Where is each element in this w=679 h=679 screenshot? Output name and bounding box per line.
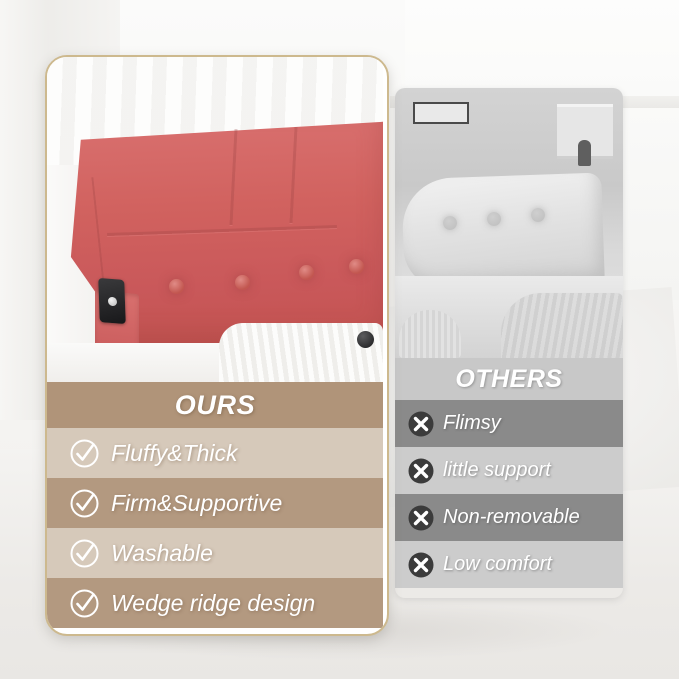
others-feature-label: Flimsy bbox=[443, 412, 501, 435]
ours-product-photo bbox=[47, 57, 383, 382]
ours-feature-row: Firm&Supportive bbox=[47, 478, 383, 528]
x-circle-icon bbox=[407, 410, 435, 438]
ours-comparison-card: OURS Fluffy&Thick Firm&Supportive bbox=[45, 55, 389, 636]
others-shelf-decor bbox=[578, 140, 591, 166]
check-circle-icon bbox=[69, 488, 100, 519]
check-circle-icon bbox=[69, 588, 100, 619]
others-pillow-tuft bbox=[487, 212, 501, 226]
others-header: OTHERS bbox=[395, 358, 623, 400]
ours-feature-row: Wedge ridge design bbox=[47, 578, 383, 628]
ours-pillow-tuft bbox=[235, 275, 250, 290]
ours-feature-label: Firm&Supportive bbox=[111, 490, 282, 517]
check-circle-icon bbox=[69, 538, 100, 569]
others-feature-label: Non-removable bbox=[443, 506, 580, 529]
others-pillow-tuft bbox=[443, 216, 457, 230]
others-feature-label: Low comfort bbox=[443, 553, 552, 576]
ours-feature-label: Washable bbox=[111, 540, 213, 567]
check-circle-icon bbox=[69, 438, 100, 469]
x-circle-icon bbox=[407, 551, 435, 579]
ours-feature-row: Fluffy&Thick bbox=[47, 428, 383, 478]
others-comparison-card: OTHERS Flimsy little support bbox=[395, 88, 623, 598]
ours-phone-lens bbox=[108, 297, 117, 307]
others-header-label: OTHERS bbox=[455, 365, 562, 394]
others-pillow-tuft bbox=[531, 208, 545, 222]
ours-duvet bbox=[219, 323, 383, 382]
others-feature-row: little support bbox=[395, 447, 623, 494]
ours-pillow-tuft bbox=[299, 265, 314, 280]
others-product-photo bbox=[395, 88, 623, 358]
others-feature-list: OTHERS Flimsy little support bbox=[395, 358, 623, 588]
ours-feature-row: Washable bbox=[47, 528, 383, 578]
others-feature-row: Low comfort bbox=[395, 541, 623, 588]
ours-pillow-tuft bbox=[349, 259, 364, 274]
others-wall-frame bbox=[413, 102, 469, 124]
others-wedge-pillow bbox=[401, 173, 605, 290]
x-circle-icon bbox=[407, 504, 435, 532]
x-circle-icon bbox=[407, 457, 435, 485]
ours-bed-knob bbox=[357, 331, 374, 348]
ours-feature-label: Wedge ridge design bbox=[111, 590, 315, 617]
ours-header-label: OURS bbox=[175, 390, 255, 421]
others-feature-row: Flimsy bbox=[395, 400, 623, 447]
ours-feature-list: OURS Fluffy&Thick Firm&Supportive bbox=[47, 382, 383, 628]
product-comparison-image: OTHERS Flimsy little support bbox=[0, 0, 679, 679]
ours-feature-label: Fluffy&Thick bbox=[111, 440, 238, 467]
ours-pillow-tuft bbox=[169, 279, 184, 294]
others-feature-row: Non-removable bbox=[395, 494, 623, 541]
others-bed-throw bbox=[501, 293, 623, 358]
others-feature-label: little support bbox=[443, 459, 551, 482]
ours-header: OURS bbox=[47, 382, 383, 428]
